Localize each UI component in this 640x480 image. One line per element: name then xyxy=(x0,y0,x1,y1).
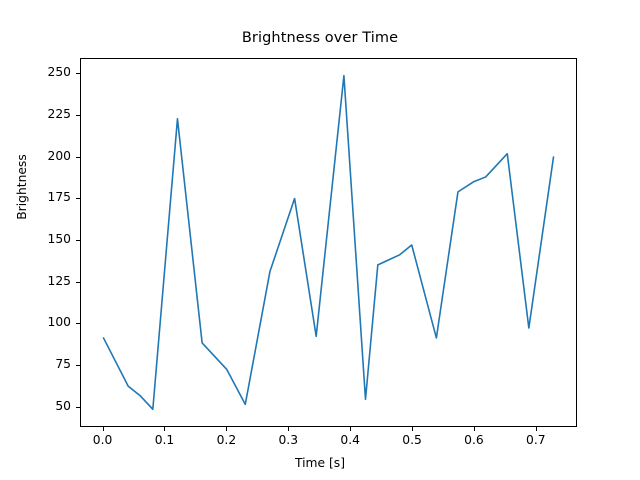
x-axis-label: Time [s] xyxy=(0,456,640,470)
y-tick-label: 175 xyxy=(48,190,71,204)
x-tick-label: 0.3 xyxy=(278,433,298,447)
data-line-chart xyxy=(81,59,576,426)
y-tick-label: 125 xyxy=(48,274,71,288)
y-tick-label: 100 xyxy=(48,315,71,329)
x-tick-mark xyxy=(103,427,104,431)
x-tick-mark xyxy=(474,427,475,431)
chart-title: Brightness over Time xyxy=(0,30,640,46)
series-line-brightness xyxy=(103,76,553,410)
y-tick-label: 225 xyxy=(48,107,71,121)
x-tick-mark xyxy=(536,427,537,431)
x-tick-mark xyxy=(350,427,351,431)
x-tick-mark xyxy=(226,427,227,431)
plot-area xyxy=(80,58,577,427)
x-tick-label: 0.4 xyxy=(340,433,360,447)
y-tick-label: 200 xyxy=(48,149,71,163)
y-tick-label: 75 xyxy=(55,357,71,371)
x-tick-label: 0.0 xyxy=(93,433,113,447)
x-tick-label: 0.7 xyxy=(526,433,546,447)
y-tick-label: 250 xyxy=(48,65,71,79)
x-tick-label: 0.6 xyxy=(464,433,484,447)
y-axis-tick-labels: 5075100125150175200225250 xyxy=(0,0,71,480)
x-tick-label: 0.2 xyxy=(217,433,237,447)
figure-canvas: Brightness over Time Brightness Time [s]… xyxy=(0,0,640,480)
x-tick-label: 0.1 xyxy=(155,433,175,447)
y-tick-label: 50 xyxy=(55,399,71,413)
x-tick-mark xyxy=(412,427,413,431)
y-tick-label: 150 xyxy=(48,232,71,246)
x-tick-mark xyxy=(164,427,165,431)
x-tick-label: 0.5 xyxy=(402,433,422,447)
x-tick-mark xyxy=(288,427,289,431)
